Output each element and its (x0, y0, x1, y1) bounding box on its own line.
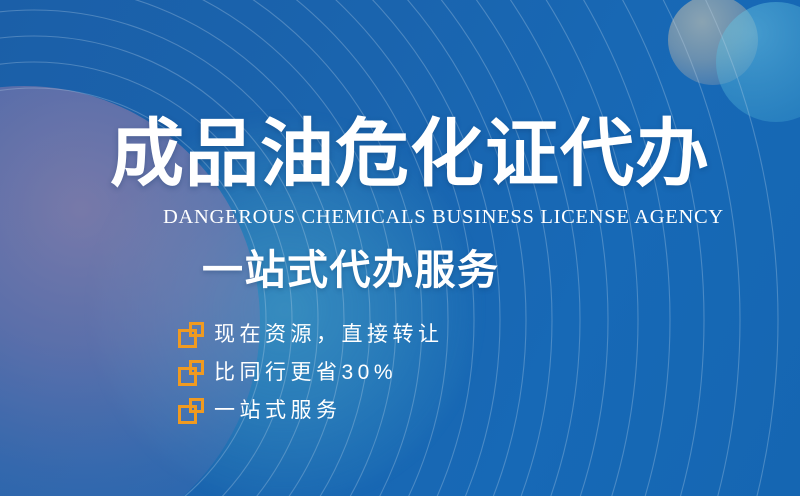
list-item-label: 一站式服务 (214, 398, 342, 424)
overlapping-squares-icon (178, 360, 204, 386)
promo-banner: 成品油危化证代办 DANGEROUS CHEMICALS BUSINESS LI… (0, 0, 800, 496)
service-subtitle: 一站式代办服务 (202, 246, 500, 294)
overlapping-squares-icon (178, 398, 204, 424)
list-item: 比同行更省30% (178, 354, 444, 392)
banner-content: 成品油危化证代办 DANGEROUS CHEMICALS BUSINESS LI… (0, 0, 800, 496)
list-item: 一站式服务 (178, 392, 444, 430)
list-item: 现在资源，直接转让 (178, 316, 444, 354)
feature-list: 现在资源，直接转让 比同行更省30% 一站式服务 (178, 316, 444, 430)
title-subtitle-english: DANGEROUS CHEMICALS BUSINESS LICENSE AGE… (163, 205, 724, 229)
page-title: 成品油危化证代办 (110, 112, 710, 196)
list-item-label: 比同行更省30% (214, 360, 397, 386)
overlapping-squares-icon (178, 322, 204, 348)
list-item-label: 现在资源，直接转让 (214, 322, 444, 348)
